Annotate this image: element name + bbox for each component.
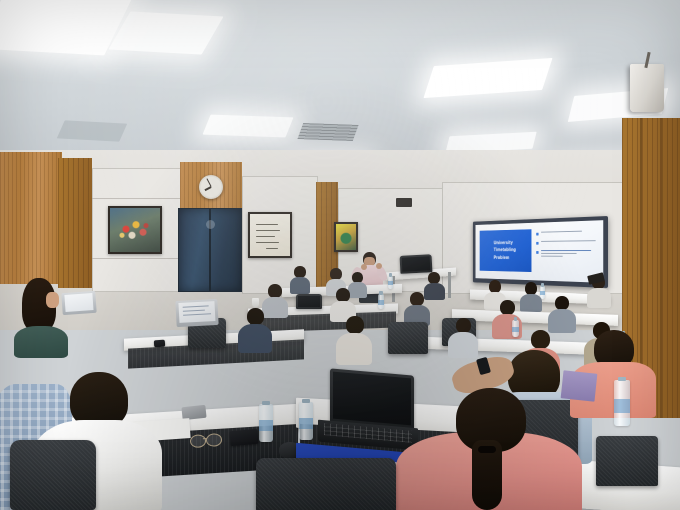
slide-bullet-item (536, 250, 598, 259)
smartphone[interactable] (229, 429, 258, 446)
laptop-screen-text (183, 310, 205, 312)
bullet-square-icon (536, 242, 538, 245)
wall-panel-seam (92, 198, 180, 199)
slide-bullet-item (536, 230, 598, 235)
slide-title: University Timetabling Problem (492, 240, 519, 262)
person-head (346, 316, 364, 334)
bottle-label (259, 420, 273, 431)
ceiling-light-panel (108, 11, 223, 54)
person-head (410, 292, 424, 306)
presentation-slide: University Timetabling Problem (476, 220, 604, 283)
audience-member (548, 296, 576, 332)
person-torso (448, 332, 478, 358)
person-head (268, 284, 282, 298)
small-framed-artwork (334, 222, 358, 252)
laptop-screen (178, 301, 215, 323)
bullet-square-icon (536, 233, 538, 236)
audience-member-filming (586, 274, 612, 308)
paper-cup (252, 298, 259, 307)
hair-tie (478, 446, 496, 453)
person-torso (520, 294, 542, 312)
bottle-cap (618, 377, 626, 381)
woman-pink-blouse-foreground (396, 388, 582, 510)
ceiling-light-panel (203, 115, 294, 138)
ceiling-tile-panel (57, 120, 128, 141)
chair[interactable] (596, 436, 658, 486)
bottle-label (388, 281, 393, 285)
ceiling-air-vent (297, 123, 358, 141)
chair[interactable] (256, 458, 396, 510)
wall-panel-seam (92, 258, 180, 259)
presenter-monitor (400, 254, 433, 274)
bottle-label (512, 327, 519, 332)
person-head (500, 300, 515, 315)
framed-calligraphy (248, 212, 292, 258)
presenter-monitor-screen (402, 256, 431, 271)
bullet-text (541, 250, 599, 259)
bottle-cap (514, 317, 518, 321)
calligraphy-artwork (250, 214, 290, 256)
slide-title-line-2: Timetabling (494, 247, 516, 254)
audience-member (290, 266, 310, 292)
glass-double-door[interactable] (178, 208, 242, 292)
bullet-text (541, 240, 599, 243)
bottle-cap (262, 401, 269, 405)
glasses-lens-left (190, 434, 207, 448)
presenter-hand (376, 263, 382, 269)
open-laptop-silver (175, 299, 218, 327)
clock-hand-minute (206, 178, 211, 187)
water-bottle (512, 320, 519, 337)
audience-member (238, 308, 272, 352)
door-logo-decal (206, 220, 215, 229)
slide-title-block: University Timetabling Problem (480, 229, 532, 272)
person-head (456, 318, 471, 333)
bottle-cap (379, 291, 382, 295)
bottle-label (378, 300, 384, 305)
glasses-lens-right (206, 433, 223, 447)
wall-wood-column-left (58, 158, 92, 288)
smartphone (154, 340, 165, 348)
bullet-square-icon (536, 251, 538, 254)
bottle-label (614, 399, 630, 413)
audience-member (520, 282, 542, 310)
floral-painting (108, 206, 162, 254)
wood-column-groove (660, 118, 662, 418)
wall-clock (199, 175, 223, 199)
bottle-label (299, 418, 313, 429)
audience-member (336, 316, 372, 364)
person-head (555, 296, 569, 310)
ceiling-projector (396, 198, 412, 207)
water-bottle[interactable] (614, 380, 630, 426)
person-torso (336, 333, 372, 365)
audience-member (404, 292, 430, 324)
bullet-text (541, 230, 599, 234)
water-bottle (378, 294, 384, 309)
seminar-room-photo: University Timetabling Problem (0, 0, 680, 510)
laptop-screen-text (183, 313, 211, 315)
slide-bullet-item (536, 240, 598, 245)
laptop-screen-text (183, 305, 209, 307)
glasses-bridge (203, 438, 207, 440)
water-bottle[interactable] (299, 402, 313, 440)
presenter-hand (361, 264, 367, 270)
water-bottle (388, 276, 393, 289)
presenter-table-leg (448, 272, 451, 298)
water-bottle[interactable] (259, 404, 273, 442)
person-head (531, 330, 550, 349)
person-head (247, 308, 264, 325)
audience-member (448, 318, 478, 356)
person-face (46, 292, 59, 308)
ceiling-light-panel (423, 58, 552, 98)
wall-wood-panel-left (0, 152, 62, 284)
person-head (336, 288, 350, 302)
chair[interactable] (10, 440, 96, 510)
person-torso (587, 288, 611, 308)
bottle-cap (389, 273, 392, 277)
bottle-cap (302, 399, 309, 403)
wall-speaker (630, 64, 664, 112)
laptop-screen (64, 293, 93, 312)
woman-teal-top (14, 278, 68, 352)
laptop-screen (298, 296, 320, 307)
person-torso (238, 324, 272, 353)
eyeglasses[interactable] (190, 433, 225, 447)
person-torso (14, 326, 68, 358)
open-laptop (296, 294, 322, 309)
slide-title-line-3: Problem (494, 254, 516, 261)
person-torso (290, 277, 310, 294)
chair[interactable] (388, 322, 428, 354)
